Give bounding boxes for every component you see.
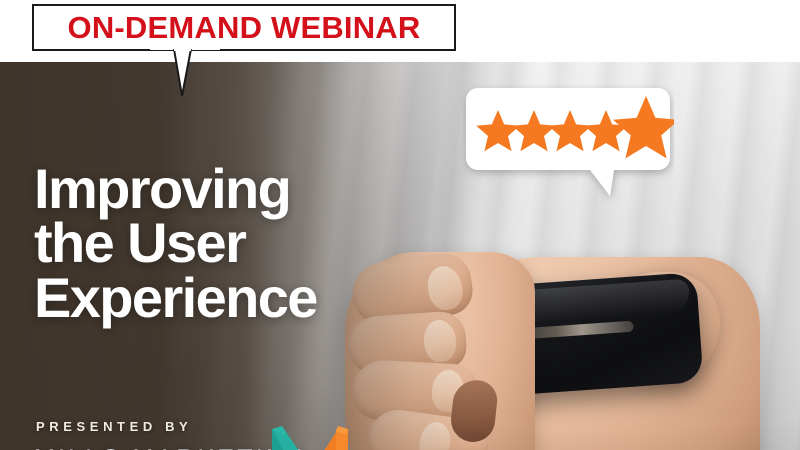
headline-line-3: Experience bbox=[34, 271, 434, 325]
brand-name-label: MILLS MARKETING bbox=[34, 445, 310, 450]
headline-line-2: the User bbox=[34, 216, 434, 270]
speech-bubble-tail-icon bbox=[150, 48, 220, 98]
rating-speech-bubble bbox=[462, 84, 674, 204]
page-title: Improving the User Experience bbox=[34, 162, 434, 325]
headline-line-1: Improving bbox=[34, 162, 434, 216]
presented-by-label: PRESENTED BY bbox=[36, 419, 192, 434]
webinar-promo-graphic: Improving the User Experience PRESENTED … bbox=[0, 0, 800, 450]
banner-label: ON-DEMAND WEBINAR bbox=[68, 12, 421, 43]
mills-marketing-m-logo-icon bbox=[270, 422, 350, 450]
background-photo: Improving the User Experience PRESENTED … bbox=[0, 62, 800, 450]
on-demand-webinar-banner: ON-DEMAND WEBINAR bbox=[32, 4, 456, 51]
